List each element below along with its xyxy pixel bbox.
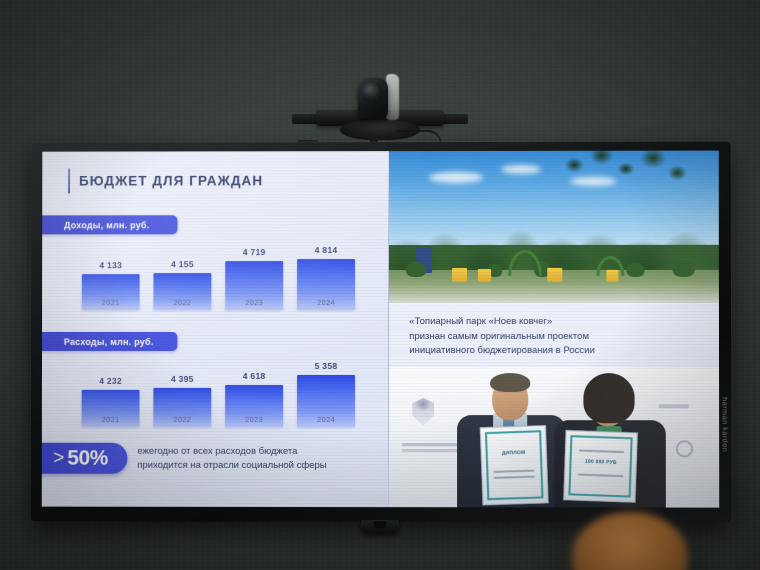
camera-lens-icon	[362, 82, 382, 102]
expense-chart-label-text: Расходы, млн. руб.	[64, 336, 154, 346]
television: БЮДЖЕТ ДЛЯ ГРАЖДАН Доходы, млн. руб. 4 1…	[31, 142, 732, 523]
expense-chart-label: Расходы, млн. руб.	[42, 332, 178, 351]
bar-year-label: 2023	[225, 415, 283, 424]
bar-value-label: 4 155	[154, 259, 212, 269]
income-chart-block: Доходы, млн. руб. 4 133 2021	[42, 215, 388, 310]
certificate-border	[568, 436, 633, 498]
bar-column: 4 395 2022	[153, 357, 211, 427]
bar-value-label: 4 395	[153, 374, 211, 384]
caption-line-3: инициативного бюджетирования в России	[409, 344, 703, 359]
bar-column: 4 133 2021	[82, 240, 140, 310]
bar-rect: 2022	[153, 388, 211, 427]
percent-badge: > 50%	[42, 443, 128, 474]
backdrop-text-lines	[402, 443, 458, 446]
bar-rect: 2023	[225, 261, 283, 310]
photo-foreground-branch	[547, 151, 699, 212]
topiary-park-photo	[389, 151, 719, 303]
bar-year-label: 2021	[82, 298, 140, 307]
bar-rect: 2023	[225, 385, 283, 427]
photo-planter	[452, 268, 467, 282]
income-chart-label: Доходы, млн. руб.	[42, 215, 178, 234]
bar-column: 4 814 2024	[297, 240, 355, 310]
woman-hair	[583, 373, 635, 424]
photo-topiary	[673, 261, 695, 277]
certificate-prize: 100 000 РУБ	[563, 430, 638, 503]
caption-line-1: «Топиарный парк «Ноев ковчег»	[409, 315, 703, 330]
bar-rect: 2024	[297, 375, 355, 427]
slide-title-row: БЮДЖЕТ ДЛЯ ГРАЖДАН	[42, 151, 388, 193]
bar-value-label: 4 814	[297, 245, 355, 255]
bar-column: 4 232 2021	[82, 357, 140, 427]
highlight-line-2: приходится на отрасли социальной сферы	[137, 458, 326, 472]
income-chart-label-text: Доходы, млн. руб.	[64, 220, 149, 230]
bar-column: 4 719 2023	[225, 240, 283, 310]
bar-value-label: 5 358	[297, 361, 355, 371]
bar-value-label: 4 618	[225, 371, 283, 381]
income-chart-bars: 4 133 2021 4 155 2022	[42, 240, 388, 310]
slide-left-panel: БЮДЖЕТ ДЛЯ ГРАЖДАН Доходы, млн. руб. 4 1…	[42, 151, 389, 507]
brand-label-text: harman kardon	[721, 397, 728, 452]
bar-rect: 2021	[82, 390, 140, 427]
photo-topiary	[626, 263, 644, 277]
bar-year-label: 2024	[297, 415, 355, 424]
photo-planter	[547, 268, 562, 282]
tv-stand-notch	[374, 521, 386, 528]
expense-chart-block: Расходы, млн. руб. 4 232 2021	[42, 332, 388, 427]
certificate-border	[485, 430, 543, 500]
backdrop-logo-circle	[676, 440, 693, 457]
award-ceremony-photo: ДИПЛОМ 100 000 РУБ	[389, 367, 719, 507]
tv-bezel: БЮДЖЕТ ДЛЯ ГРАЖДАН Доходы, млн. руб. 4 1…	[31, 142, 732, 523]
bar-column: 4 618 2023	[225, 357, 283, 427]
caption-line-2: признан самым оригинальным проектом	[409, 330, 703, 345]
photo-planter	[478, 269, 491, 282]
bar-year-label: 2022	[153, 298, 211, 307]
highlight-banner: > 50% ежегодно от всех расходов бюджета …	[42, 443, 388, 474]
bar-year-label: 2022	[153, 415, 211, 424]
percent-value: 50%	[67, 448, 108, 469]
brand-label: harman kardon	[718, 367, 730, 482]
bar-rect: 2022	[153, 273, 211, 310]
award-caption: «Топиарный парк «Ноев ковчег» признан са…	[389, 303, 719, 359]
bar-value-label: 4 133	[82, 260, 140, 270]
photo-topiary	[406, 262, 426, 277]
title-accent-bar	[68, 169, 70, 194]
photo-planter	[607, 270, 619, 282]
photo-cloud	[501, 165, 541, 174]
bar-year-label: 2021	[82, 415, 140, 424]
slide-right-panel: «Топиарный парк «Ноев ковчег» признан са…	[389, 151, 719, 508]
bar-column: 5 358 2024	[297, 357, 355, 427]
room-scene: БЮДЖЕТ ДЛЯ ГРАЖДАН Доходы, млн. руб. 4 1…	[0, 0, 760, 570]
bar-value-label: 4 719	[225, 247, 283, 257]
certificate-diploma: ДИПЛОМ	[480, 425, 549, 506]
highlight-description: ежегодно от всех расходов бюджета приход…	[137, 445, 326, 473]
highlight-line-1: ежегодно от всех расходов бюджета	[137, 445, 326, 459]
greater-than-icon: >	[53, 449, 64, 468]
man-hair	[490, 373, 530, 393]
bar-column: 4 155 2022	[153, 240, 211, 310]
expense-chart-bars: 4 232 2021 4 395 2022	[42, 357, 388, 427]
tv-screen[interactable]: БЮДЖЕТ ДЛЯ ГРАЖДАН Доходы, млн. руб. 4 1…	[42, 151, 719, 508]
conference-camera-icon	[300, 48, 460, 148]
page-title: БЮДЖЕТ ДЛЯ ГРАЖДАН	[79, 173, 263, 188]
presentation-slide: БЮДЖЕТ ДЛЯ ГРАЖДАН Доходы, млн. руб. 4 1…	[42, 151, 719, 508]
bar-year-label: 2024	[297, 298, 355, 307]
bar-value-label: 4 232	[82, 376, 140, 386]
bar-rect: 2024	[297, 259, 355, 310]
bar-year-label: 2023	[225, 298, 283, 307]
bar-rect: 2021	[82, 274, 140, 310]
